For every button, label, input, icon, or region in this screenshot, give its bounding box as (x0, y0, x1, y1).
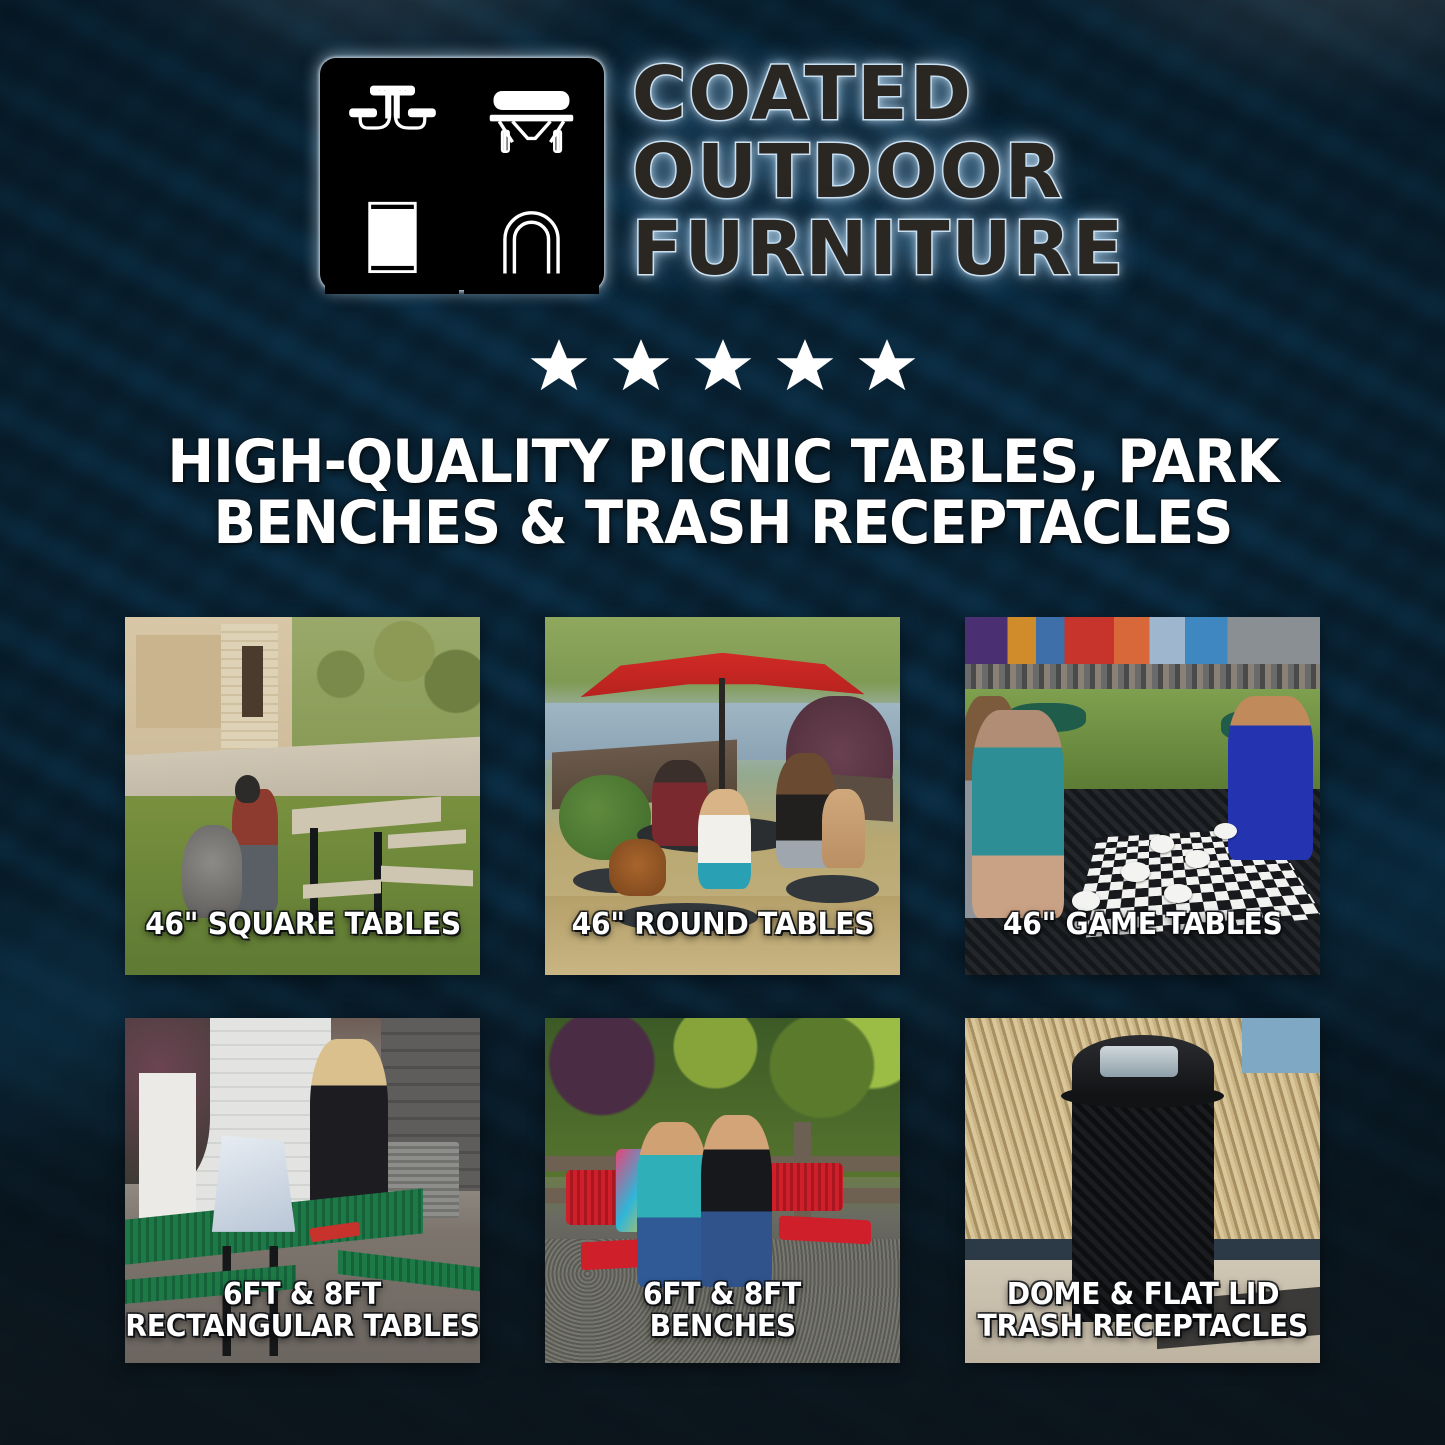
headline: HIGH-QUALITY PICNIC TABLES, PARK BENCHES… (108, 432, 1338, 554)
brand-logo-mark (320, 58, 604, 290)
caption-line-1: 46" GAME TABLES (1003, 909, 1283, 941)
caption-line-1: 6FT & 8FT (644, 1279, 802, 1311)
bike-rack-icon (464, 181, 599, 294)
wordmark-line-1: COATED (632, 60, 1125, 130)
product-caption: 46" ROUND TABLES (545, 909, 900, 941)
picnic-table-icon (325, 63, 460, 176)
brand-wordmark: COATED OUTDOOR FURNITURE (632, 58, 1125, 293)
product-grid: 46" SQUARE TABLES (125, 617, 1321, 1363)
product-tile-benches[interactable]: 6FT & 8FT BENCHES (545, 1018, 900, 1363)
product-tile-rectangular-tables[interactable]: 6FT & 8FT RECTANGULAR TABLES (125, 1018, 480, 1363)
promotional-graphic: COATED OUTDOOR FURNITURE HIGH-QUALITY PI… (0, 0, 1445, 1445)
product-caption: 6FT & 8FT RECTANGULAR TABLES (125, 1279, 480, 1343)
brand-header: COATED OUTDOOR FURNITURE (0, 58, 1445, 293)
caption-line-1: 46" ROUND TABLES (571, 909, 874, 941)
caption-line-2: BENCHES (649, 1311, 795, 1343)
star-icon (527, 336, 591, 398)
star-icon (773, 336, 837, 398)
star-icon (855, 336, 919, 398)
caption-line-2: RECTANGULAR TABLES (125, 1311, 479, 1343)
headline-line-1: HIGH-QUALITY PICNIC TABLES, PARK (151, 432, 1295, 493)
trash-receptacle-icon (325, 181, 460, 294)
wordmark-line-2: OUTDOOR (632, 138, 1125, 208)
caption-line-1: DOME & FLAT LID (1006, 1279, 1278, 1311)
product-caption: 46" SQUARE TABLES (125, 909, 480, 941)
product-tile-square-tables[interactable]: 46" SQUARE TABLES (125, 617, 480, 975)
caption-line-1: 46" SQUARE TABLES (145, 909, 461, 941)
product-caption: 6FT & 8FT BENCHES (545, 1279, 900, 1343)
product-caption: DOME & FLAT LID TRASH RECEPTACLES (965, 1279, 1320, 1343)
star-icon (609, 336, 673, 398)
bench-icon (464, 63, 599, 176)
five-star-rating (0, 336, 1445, 398)
caption-line-2: TRASH RECEPTACLES (977, 1311, 1307, 1343)
product-caption: 46" GAME TABLES (965, 909, 1320, 941)
wordmark-line-3: FURNITURE (632, 215, 1125, 285)
product-tile-game-tables[interactable]: 46" GAME TABLES (965, 617, 1320, 975)
caption-line-1: 6FT & 8FT (224, 1279, 382, 1311)
star-icon (691, 336, 755, 398)
product-tile-round-tables[interactable]: 46" ROUND TABLES (545, 617, 900, 975)
product-tile-trash-receptacles[interactable]: DOME & FLAT LID TRASH RECEPTACLES (965, 1018, 1320, 1363)
headline-line-2: BENCHES & TRASH RECEPTACLES (151, 493, 1295, 554)
